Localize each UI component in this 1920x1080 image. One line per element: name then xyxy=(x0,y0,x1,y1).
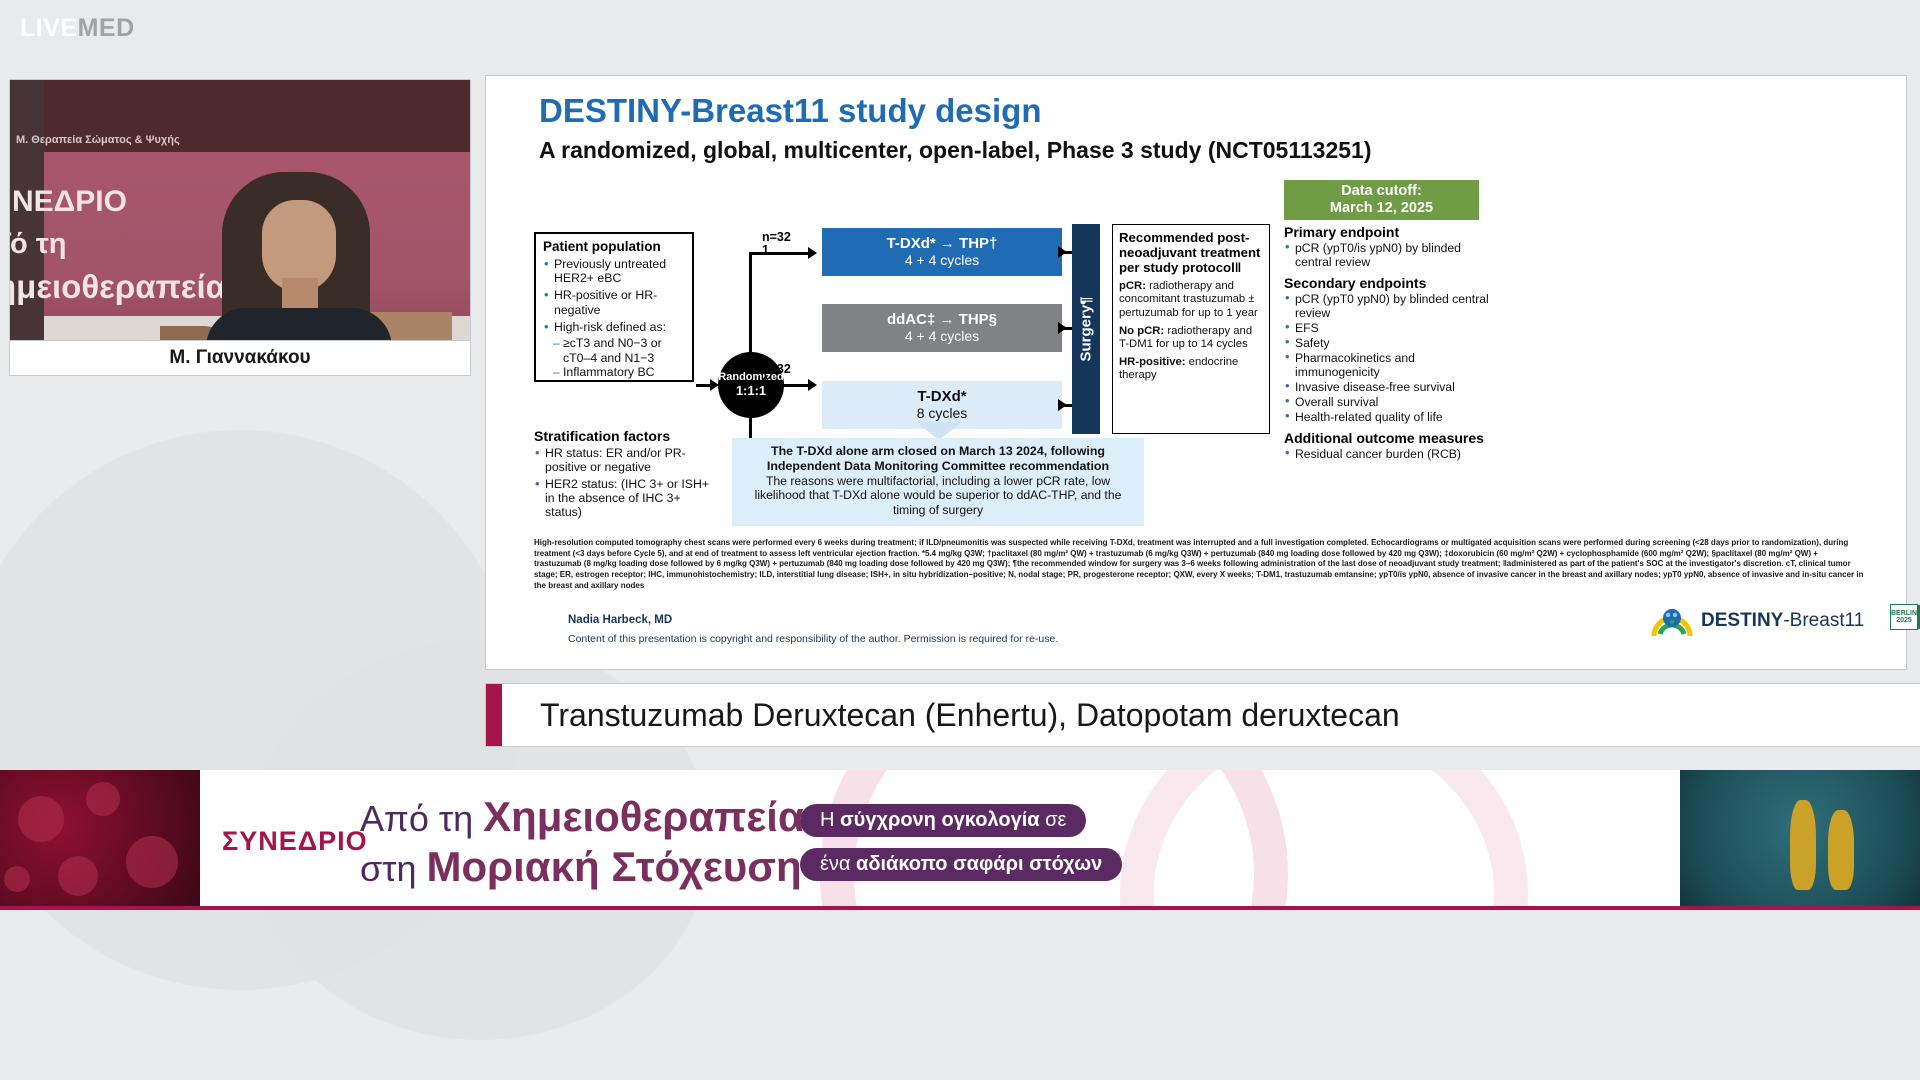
session-title-band: Transtuzumab Deruxtecan (Enhertu), Datop… xyxy=(486,684,1920,746)
logo-text-live: LIVE xyxy=(20,14,78,42)
arrow-head xyxy=(1058,322,1067,334)
list-item: HER2 status: (IHC 3+ or ISH+ in the abse… xyxy=(534,477,716,520)
post-neoadjuvant-row: HR-positive: endocrine therapy xyxy=(1119,356,1263,382)
list-item: HR-positive or HR-negative xyxy=(543,288,686,317)
presentation-slide[interactable]: DESTINY-Breast11 study design A randomiz… xyxy=(486,76,1906,669)
list-item: High-risk defined as: xyxy=(543,320,686,334)
list-item: Health-related quality of life xyxy=(1284,410,1494,424)
list-item: Previously untreated HER2+ eBC xyxy=(543,257,686,286)
arm-title: T-DXd* → THP† xyxy=(887,235,998,252)
stratification-list: HR status: ER and/or PR-positive or nega… xyxy=(534,446,716,519)
video-banner-line: Μ. Θεραπεία Σώματος & Ψυχής xyxy=(16,134,180,146)
list-item: Inflammatory BC xyxy=(543,365,686,379)
patient-population-heading: Patient population xyxy=(543,239,686,254)
list-item: Pharmacokinetics and immunogenicity xyxy=(1284,351,1494,379)
video-banner-line: ημειοθεραπεία xyxy=(10,268,226,306)
destiny-logo-suffix: -Breast11 xyxy=(1783,610,1864,631)
cell-shape xyxy=(18,796,64,842)
banner-title-line1-big: Χημειοθεραπεία xyxy=(483,793,804,840)
post-neoadjuvant-row: pCR: radiotherapy and concomitant trastu… xyxy=(1119,280,1263,320)
destiny-logo-prefix: DESTINY xyxy=(1701,610,1783,631)
data-cutoff-line1: Data cutoff: xyxy=(1341,183,1422,200)
list-item: Safety xyxy=(1284,336,1494,350)
banner-title-line1-normal: Από τη xyxy=(360,798,483,839)
secondary-endpoints-heading: Secondary endpoints xyxy=(1284,275,1494,291)
pill1-bold: σύγχρονη ογκολογία xyxy=(840,809,1040,831)
event-banner: ΣΥΝΕΔΡΙΟ Από τη Χημειοθεραπεία στη Μορια… xyxy=(0,770,1920,910)
stratification-heading: Stratification factors xyxy=(534,428,716,444)
arm-n-top: n=32 xyxy=(762,231,791,244)
statue-figure xyxy=(1828,810,1854,890)
session-title: Transtuzumab Deruxtecan (Enhertu), Datop… xyxy=(540,697,1400,734)
arm-n-top: n=32 xyxy=(762,363,791,376)
slide-subtitle: A randomized, global, multicenter, open-… xyxy=(539,136,1499,165)
banner-title-line2-big: Μοριακή Στόχευση xyxy=(426,843,801,890)
surgery-label: Surgery¶ xyxy=(1078,296,1095,361)
pill1-tail: σε xyxy=(1040,809,1067,831)
post-neoadjuvant-heading: Recommended post-neoadjuvant treatment p… xyxy=(1119,230,1263,275)
arm-title: T-DXd* xyxy=(917,388,966,405)
patient-population-list: Previously untreated HER2+ eBC HR-positi… xyxy=(543,257,686,380)
speaker-name: Μ. Γιαννακάκου xyxy=(169,347,310,369)
cell-shape xyxy=(58,856,98,896)
treatment-arm-1: T-DXd* → THP† 4 + 4 cycles xyxy=(822,228,1062,276)
surgery-bar: Surgery¶ xyxy=(1072,224,1100,434)
data-cutoff-line2: March 12, 2025 xyxy=(1330,200,1433,217)
treatment-arm-2: ddAC‡ → THP§ 4 + 4 cycles xyxy=(822,304,1062,352)
list-item: Overall survival xyxy=(1284,395,1494,409)
slide-copyright: Content of this presentation is copyrigh… xyxy=(568,633,1058,645)
slide-title: DESTINY-Breast11 study design xyxy=(539,92,1042,130)
banner-wave xyxy=(1120,770,1528,910)
post-neoadjuvant-box: Recommended post-neoadjuvant treatment p… xyxy=(1112,224,1270,434)
secondary-endpoints-list: pCR (ypT0 ypN0) by blinded central revie… xyxy=(1284,292,1494,424)
esmo-berlin-badge: BERLIN 2025 xyxy=(1890,604,1918,630)
banner-bottom-line xyxy=(0,906,1920,910)
speaker-video[interactable]: Μ. Θεραπεία Σώματος & Ψυχής ΝΕΔΡΙΟ ΐό τη… xyxy=(10,80,470,375)
post-row-label: No pCR: xyxy=(1119,325,1164,337)
arrow-head xyxy=(808,247,817,259)
patient-population-box: Patient population Previously untreated … xyxy=(534,232,694,382)
slide-author: Nadia Harbeck, MD xyxy=(568,614,672,626)
stratification-panel: Stratification factors HR status: ER and… xyxy=(534,428,716,521)
arm-cycles: 4 + 4 cycles xyxy=(905,328,979,345)
video-banner-line: ΝΕΔΡΙΟ xyxy=(12,185,127,219)
arm-n-label: n=32 0 xyxy=(762,363,791,389)
arm-title: ddAC‡ → THP§ xyxy=(887,311,997,328)
logo-text-med: MED xyxy=(78,14,135,42)
esmo-congress-logo: BERLIN 2025 E S M O congress xyxy=(1890,604,1920,630)
banner-synedrio-label: ΣΥΝΕΔΡΙΟ xyxy=(222,826,368,857)
list-item: EFS xyxy=(1284,321,1494,335)
post-neoadjuvant-row: No pCR: radiotherapy and T-DM1 for up to… xyxy=(1119,325,1263,351)
primary-endpoint-list: pCR (ypT0/is ypN0) by blinded central re… xyxy=(1284,241,1494,269)
banner-title: Από τη Χημειοθεραπεία στη Μοριακή Στόχευ… xyxy=(360,792,804,891)
pill1-normal: Η xyxy=(820,809,840,831)
speaker-name-bar: Μ. Γιαννακάκου xyxy=(10,341,470,375)
post-row-label: pCR: xyxy=(1119,280,1146,292)
idmc-bold-line: Independent Data Monitoring Committee re… xyxy=(740,459,1136,474)
banner-title-line2-normal: στη xyxy=(360,848,426,889)
statue-figure xyxy=(1790,800,1816,890)
arm-n-bottom: 1 xyxy=(762,244,791,257)
banner-title-line2: στη Μοριακή Στόχευση xyxy=(360,842,804,892)
arrow-head xyxy=(808,379,817,391)
idmc-bold-line: The T-DXd alone arm closed on March 13 2… xyxy=(740,444,1136,459)
esmo-berlin-line2: 2025 xyxy=(1896,617,1912,624)
primary-endpoint-heading: Primary endpoint xyxy=(1284,224,1494,240)
arrow-head xyxy=(1058,399,1067,411)
additional-outcomes-list: Residual cancer burden (RCB) xyxy=(1284,447,1494,461)
idmc-normal-text: The reasons were multifactorial, includi… xyxy=(740,474,1136,518)
arm-cycles: 8 cycles xyxy=(917,405,968,422)
list-item: ≥cT3 and N0−3 or cT0–4 and N1−3 xyxy=(543,336,686,365)
list-item: Invasive disease-free survival xyxy=(1284,380,1494,394)
video-banner-line: ΐό τη xyxy=(10,228,67,261)
livemed-logo: LIVEMED xyxy=(20,14,135,43)
arrow-head xyxy=(1058,246,1067,258)
pill2-bold: αδιάκοπο σαφάρι στόχων xyxy=(856,853,1102,875)
connector-line xyxy=(749,252,752,354)
data-cutoff-badge: Data cutoff: March 12, 2025 xyxy=(1284,180,1479,220)
treatment-arm-3: T-DXd* 8 cycles xyxy=(822,381,1062,429)
cell-shape xyxy=(126,836,178,888)
cell-shape xyxy=(4,866,30,892)
banner-pill-1: Η σύγχρονη ογκολογία σε xyxy=(800,804,1086,837)
slide-footnote: High-resolution computed tomography ches… xyxy=(534,538,1864,592)
arm-n-label: n=32 1 xyxy=(762,231,791,257)
arm-cycles: 4 + 4 cycles xyxy=(905,252,979,269)
list-item: HR status: ER and/or PR-positive or nega… xyxy=(534,446,716,475)
destiny-breast11-logo: DESTINY-Breast11 xyxy=(1651,604,1864,638)
destiny-arch-icon xyxy=(1651,604,1693,638)
post-row-label: HR-positive: xyxy=(1119,356,1186,368)
pill2-normal: ένα xyxy=(820,853,856,875)
banner-left-artwork xyxy=(0,770,200,910)
arm-n-bottom: 0 xyxy=(762,376,791,389)
banner-pill-2: ένα αδιάκοπο σαφάρι στόχων xyxy=(800,848,1122,881)
banner-title-line1: Από τη Χημειοθεραπεία xyxy=(360,792,804,842)
idmc-note-box: The T-DXd alone arm closed on March 13 2… xyxy=(732,438,1144,526)
additional-outcomes-heading: Additional outcome measures xyxy=(1284,430,1494,446)
endpoints-panel: Primary endpoint pCR (ypT0/is ypN0) by b… xyxy=(1284,224,1494,462)
list-item: pCR (ypT0 ypN0) by blinded central revie… xyxy=(1284,292,1494,320)
list-item: Residual cancer burden (RCB) xyxy=(1284,447,1494,461)
list-item: pCR (ypT0/is ypN0) by blinded central re… xyxy=(1284,241,1494,269)
destiny-logo-text: DESTINY-Breast11 xyxy=(1701,610,1864,632)
cell-shape xyxy=(86,782,120,816)
esmo-berlin-line1: BERLIN xyxy=(1891,610,1917,617)
